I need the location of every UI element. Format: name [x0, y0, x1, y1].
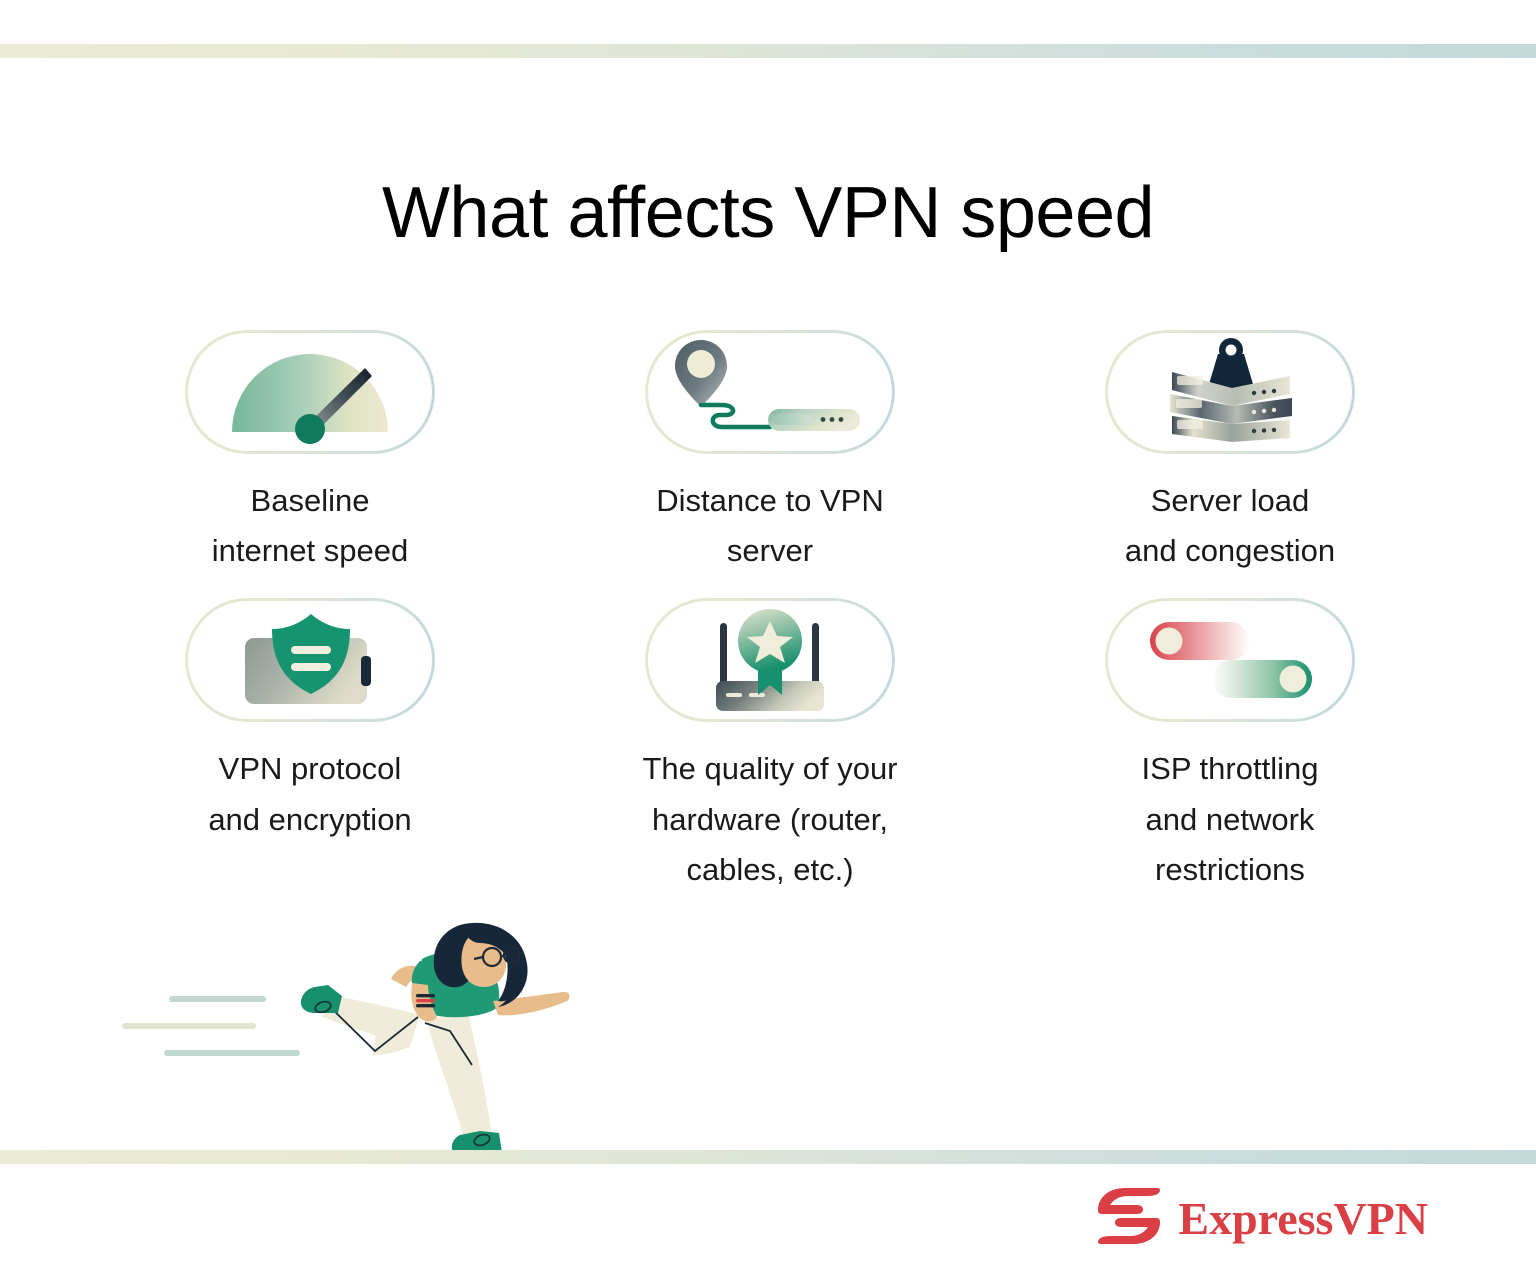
running-woman-illustration	[120, 895, 600, 1160]
loaded-server-stack-icon	[1140, 332, 1320, 452]
factor-card-baseline-internet-speed: Baseline internet speed	[80, 330, 540, 576]
toggle-switches-icon	[1140, 614, 1320, 706]
brand-name: ExpressVPN	[1178, 1192, 1428, 1245]
icon-frame	[1105, 598, 1355, 722]
icon-frame	[1105, 330, 1355, 454]
top-gradient-rule	[0, 44, 1536, 58]
factor-label: Distance to VPN server	[656, 476, 883, 576]
expressvpn-logo[interactable]: ExpressVPN	[1096, 1186, 1428, 1251]
expressvpn-e-logo	[1096, 1186, 1162, 1251]
factor-label: The quality of your hardware (router, ca…	[642, 744, 897, 895]
icon-frame	[185, 598, 435, 722]
router-quality-badge-icon	[682, 599, 858, 721]
factor-card-distance-to-vpn-server: Distance to VPN server	[540, 330, 1000, 576]
factor-label: ISP throttling and network restrictions	[1142, 744, 1319, 895]
factor-label: Server load and congestion	[1125, 476, 1335, 576]
bottom-gradient-rule	[0, 1150, 1536, 1164]
icon-frame	[645, 330, 895, 454]
factor-card-vpn-protocol-and-encryption: VPN protocol and encryption	[80, 598, 540, 895]
shielded-phone-icon	[225, 608, 395, 712]
icon-frame	[185, 330, 435, 454]
factor-label: Baseline internet speed	[212, 476, 408, 576]
icon-frame	[645, 598, 895, 722]
factors-grid: Baseline internet speed	[80, 330, 1460, 895]
page-title: What affects VPN speed	[0, 177, 1536, 249]
speed-lines	[125, 999, 297, 1053]
factor-label: VPN protocol and encryption	[208, 744, 411, 844]
speedometer-icon	[225, 344, 395, 440]
factor-card-server-load-and-congestion: Server load and congestion	[1000, 330, 1460, 576]
map-pin-to-server-icon	[670, 337, 870, 447]
factor-card-isp-throttling: ISP throttling and network restrictions	[1000, 598, 1460, 895]
factor-card-hardware-quality: The quality of your hardware (router, ca…	[540, 598, 1000, 895]
